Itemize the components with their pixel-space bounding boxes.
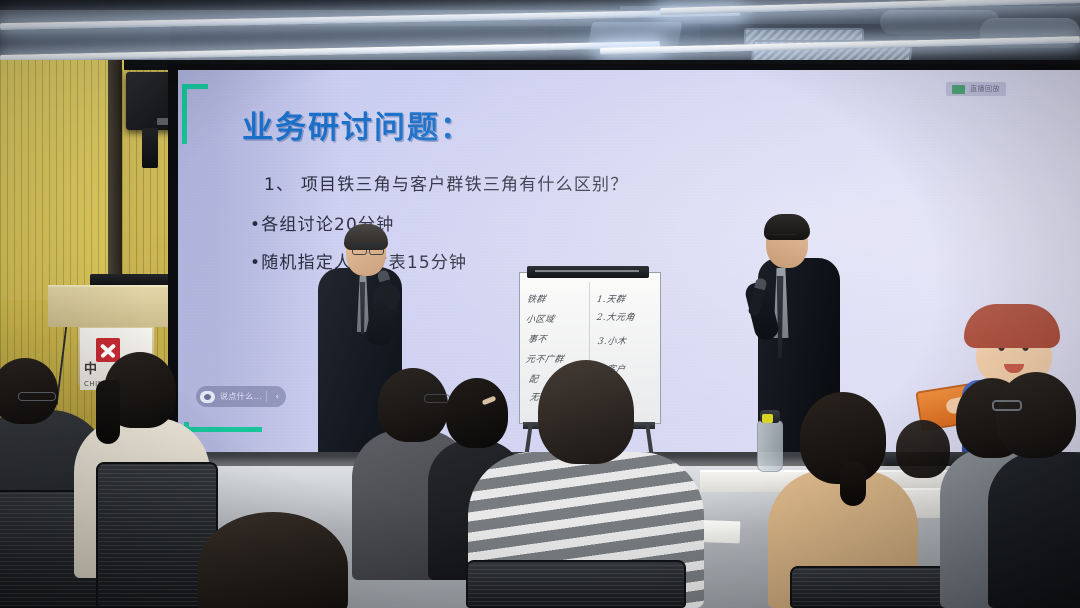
glasses-icon [352,244,384,252]
screen-corner-accent [182,84,208,144]
water-bottle [757,420,783,472]
flipchart-note: 事不 [527,332,548,345]
share-icon[interactable]: ‹ [272,392,282,402]
flipchart-note: 元不广群 [525,352,565,365]
conference-room-photo: 中 CHINA 直播回放 业务研讨问题： 1、 项目铁三角与客户群铁三角有什么区… [0,0,1080,608]
audience-hair-strand [96,380,120,444]
flipchart-note: 配 [528,372,540,385]
glasses-icon [992,400,1022,411]
slide-title: 业务研讨问题： [242,102,473,147]
comment-input-bar[interactable]: 说点什么... ‹ [196,386,286,407]
audience-ponytail [840,462,866,506]
speaker-mount [142,128,158,168]
podium-body [48,285,184,327]
chair [790,566,950,608]
watermark-text: 直播回放 [970,84,1000,94]
audience-member-head [378,368,448,442]
flipchart-note: 1.天群 [596,292,627,305]
audience-member-head [0,358,58,424]
flipchart-note: 小区域 [525,312,556,325]
screen-corner-accent [184,422,262,432]
stream-watermark: 直播回放 [946,82,1006,96]
cartoon-hair [964,304,1060,348]
audience-member-head [538,360,634,464]
user-avatar-icon [200,391,215,403]
flipchart-note: 铁群 [526,292,547,305]
glasses-icon [766,234,796,241]
flipchart-note: 3.小木 [597,334,628,347]
glasses-icon [424,394,450,403]
flipchart-note: 2.大元角 [596,310,636,323]
glasses-icon [18,392,56,401]
chair [466,560,686,608]
audience-member-head [896,420,950,478]
bottle-label [762,414,773,423]
audience-member-body [988,452,1080,608]
audience-member-head [996,372,1076,458]
slide-line-1: 1、 项目铁三角与客户群铁三角有什么区别？ [264,170,628,195]
comment-placeholder[interactable]: 说点什么... [220,391,267,402]
company-logo-icon [96,338,120,362]
audience-member-head [446,378,508,448]
flip-chart-clamp [527,266,649,278]
watermark-badge-icon [952,85,965,94]
